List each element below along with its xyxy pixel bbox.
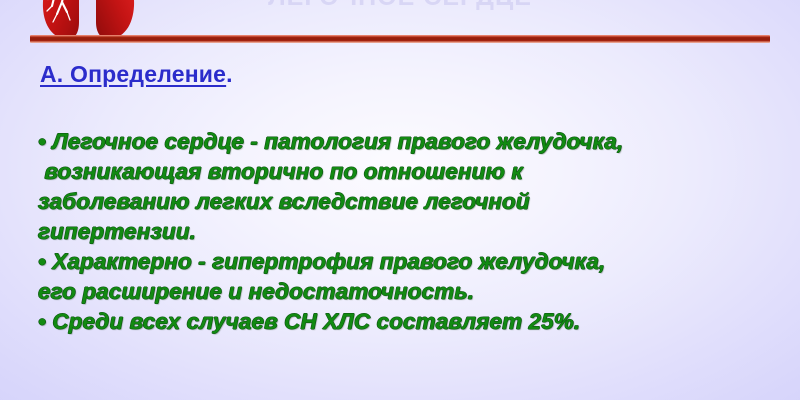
body-line: возникающая вторично по отношению к xyxy=(38,157,778,187)
body-line: • Характерно - гипертрофия правого желуд… xyxy=(38,247,778,277)
slide-title-remnant: ЛЕГОЧНОЕ СЕРДЦЕ xyxy=(0,0,800,12)
body-line: • Легочное сердце - патология правого же… xyxy=(38,127,778,157)
section-heading-period: . xyxy=(226,61,233,87)
slide-canvas: ЛЕГОЧНОЕ СЕРДЦЕ xyxy=(0,0,800,400)
body-line: заболеванию легких вследствие легочной xyxy=(38,187,778,217)
red-divider-rule xyxy=(30,35,770,43)
body-text-block: • Легочное сердце - патология правого же… xyxy=(38,127,778,337)
section-heading-text: А. Определение xyxy=(40,61,226,87)
body-line: его расширение и недостаточность. xyxy=(38,277,778,307)
body-line: • Среди всех случаев СН ХЛС составляет 2… xyxy=(38,307,778,337)
body-line: гипертензии. xyxy=(38,217,778,247)
section-heading: А. Определение. xyxy=(40,61,233,88)
divider-bar xyxy=(30,35,770,43)
